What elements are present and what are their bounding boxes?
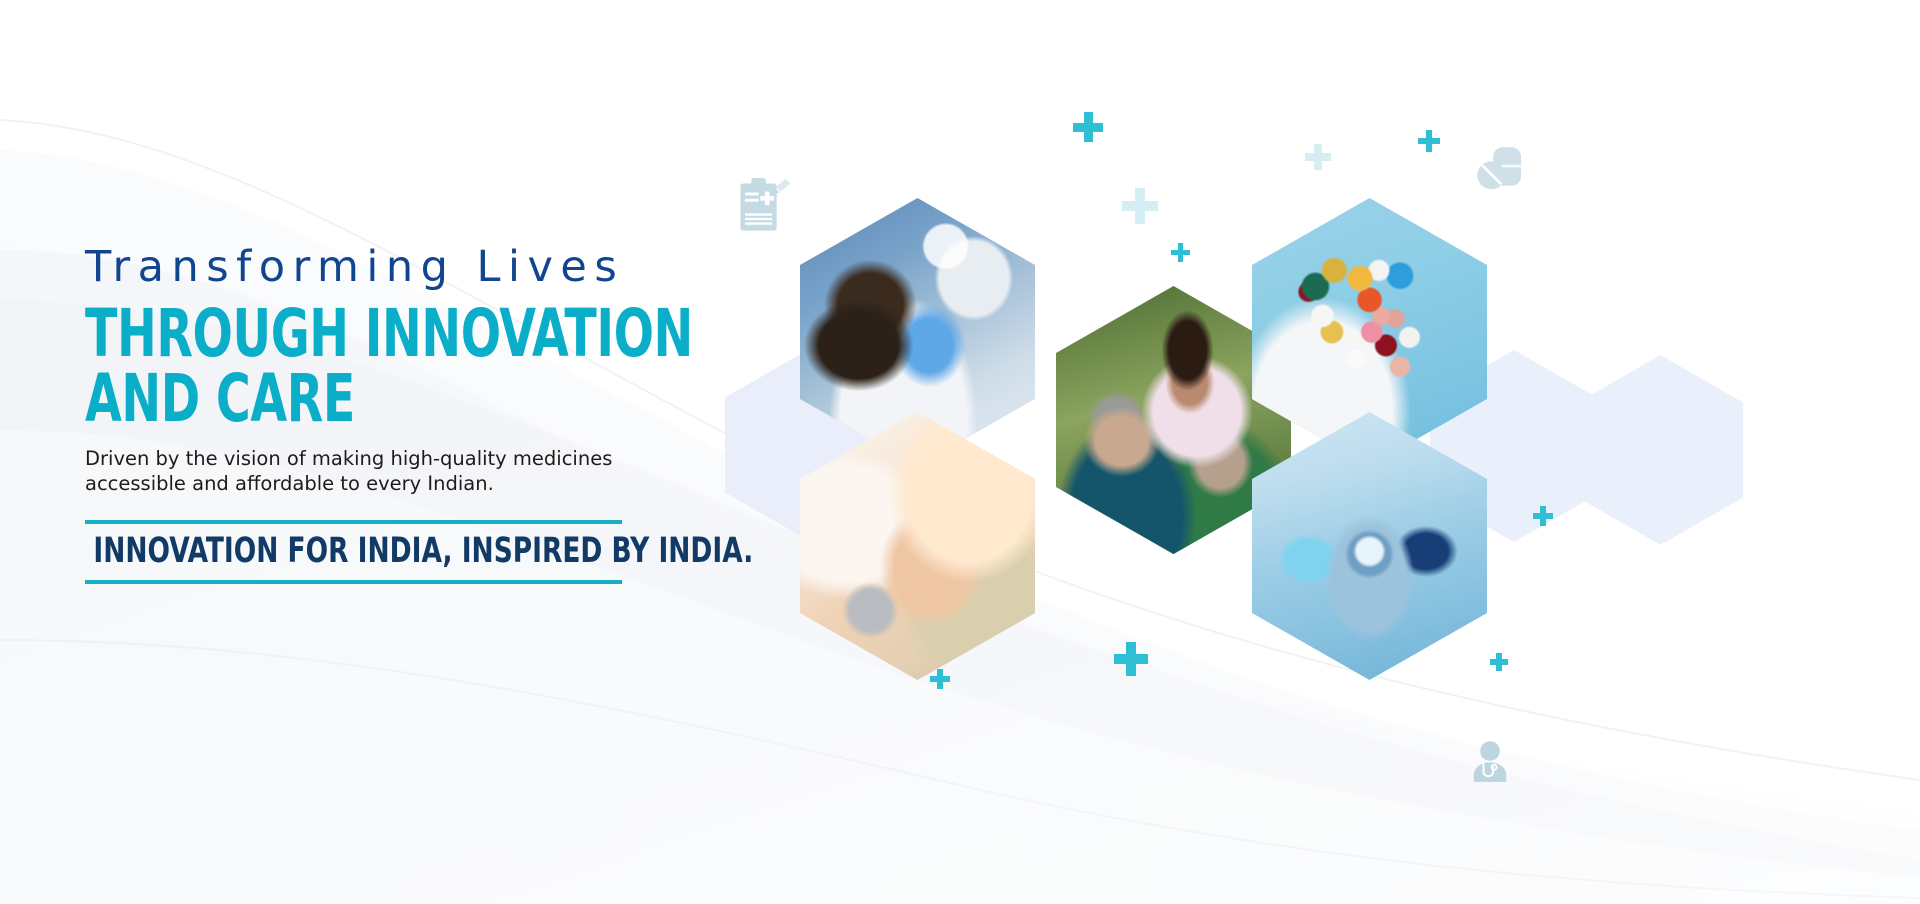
hero-banner: Transforming Lives THROUGH INNOVATION AN… <box>0 0 1920 904</box>
hexagon-image-collage <box>860 150 1920 790</box>
medical-cross-icon-3 <box>1171 243 1190 262</box>
medical-cross-icon-2 <box>1122 188 1158 224</box>
hero-text-block: Transforming Lives THROUGH INNOVATION AN… <box>85 246 785 584</box>
hero-subtext: Driven by the vision of making high-qual… <box>85 446 645 497</box>
doctor-avatar-icon <box>1464 738 1516 790</box>
tagline-text: INNOVATION FOR INDIA, INSPIRED BY INDIA. <box>85 531 536 571</box>
medical-cross-icon-4 <box>1305 144 1331 170</box>
hex-placeholder-far-right <box>1578 355 1743 545</box>
medical-cross-icon-5 <box>1418 130 1440 152</box>
medical-cross-icon-1 <box>1073 112 1103 142</box>
clipboard-medical-icon <box>735 176 793 238</box>
medical-cross-icon-8 <box>1490 653 1508 671</box>
medical-cross-icon-9 <box>1533 506 1553 526</box>
tagline-container: INNOVATION FOR INDIA, INSPIRED BY INDIA. <box>85 520 622 584</box>
pills-capsule-icon <box>1473 142 1529 198</box>
medical-cross-icon-7 <box>930 669 950 689</box>
page-title-bold: THROUGH INNOVATION AND CARE <box>85 301 645 432</box>
page-title-script: Transforming Lives <box>85 246 785 289</box>
page-title-bold-line2: AND CARE <box>85 366 645 431</box>
medical-cross-icon-6 <box>1114 642 1148 676</box>
